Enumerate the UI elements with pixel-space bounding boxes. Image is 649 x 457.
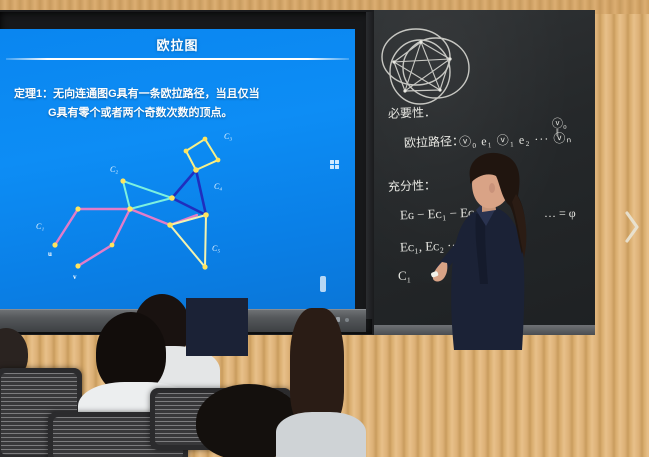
chalk-line-c1: C₁ [398, 268, 411, 284]
teacher-torso-lower [186, 298, 248, 356]
graph-label-c4: C₄ [214, 182, 222, 191]
student-shoulders-4 [276, 412, 366, 457]
chalk-line-euler-path: 欧拉路径： [404, 132, 465, 151]
chalk-line-necessity: 必要性． [388, 103, 437, 122]
chalk-line-sufficiency: 充分性： [388, 176, 437, 195]
foreground-students-area [0, 300, 649, 457]
graph-vertex-v: v [73, 273, 77, 281]
graph-label-c1: C₁ [36, 222, 44, 231]
chalk-note-parallel: ‖ [556, 128, 559, 139]
classroom-scene: 欧拉图 定理1：无向连通图G具有一条欧拉路径，当且仅当 G具有零个或者两个奇数次… [0, 0, 649, 457]
graph-label-c5: C₅ [212, 244, 220, 253]
graph-label-c2: C₂ [110, 165, 118, 174]
interactive-flat-panel[interactable]: 欧拉图 定理1：无向连通图G具有一条欧拉路径，当且仅当 G具有零个或者两个奇数次… [0, 12, 372, 334]
chalk-note-v0: ⓥ₀ [552, 115, 567, 131]
grid-four-squares-icon[interactable] [330, 160, 339, 169]
student-head-4 [290, 308, 344, 428]
graph-vertex-u: u [48, 250, 52, 258]
panel-screen[interactable]: 欧拉图 定理1：无向连通图G具有一条欧拉路径，当且仅当 G具有零个或者两个奇数次… [0, 29, 355, 309]
scrollbar-thumb[interactable] [320, 276, 326, 292]
chevron-right-icon [624, 210, 640, 244]
euler-graph-figure: C₁ C₂ C₃ C₄ C₅ u v [0, 29, 355, 309]
graph-label-c3: C₃ [224, 132, 232, 141]
panel-right-edge [366, 12, 374, 319]
